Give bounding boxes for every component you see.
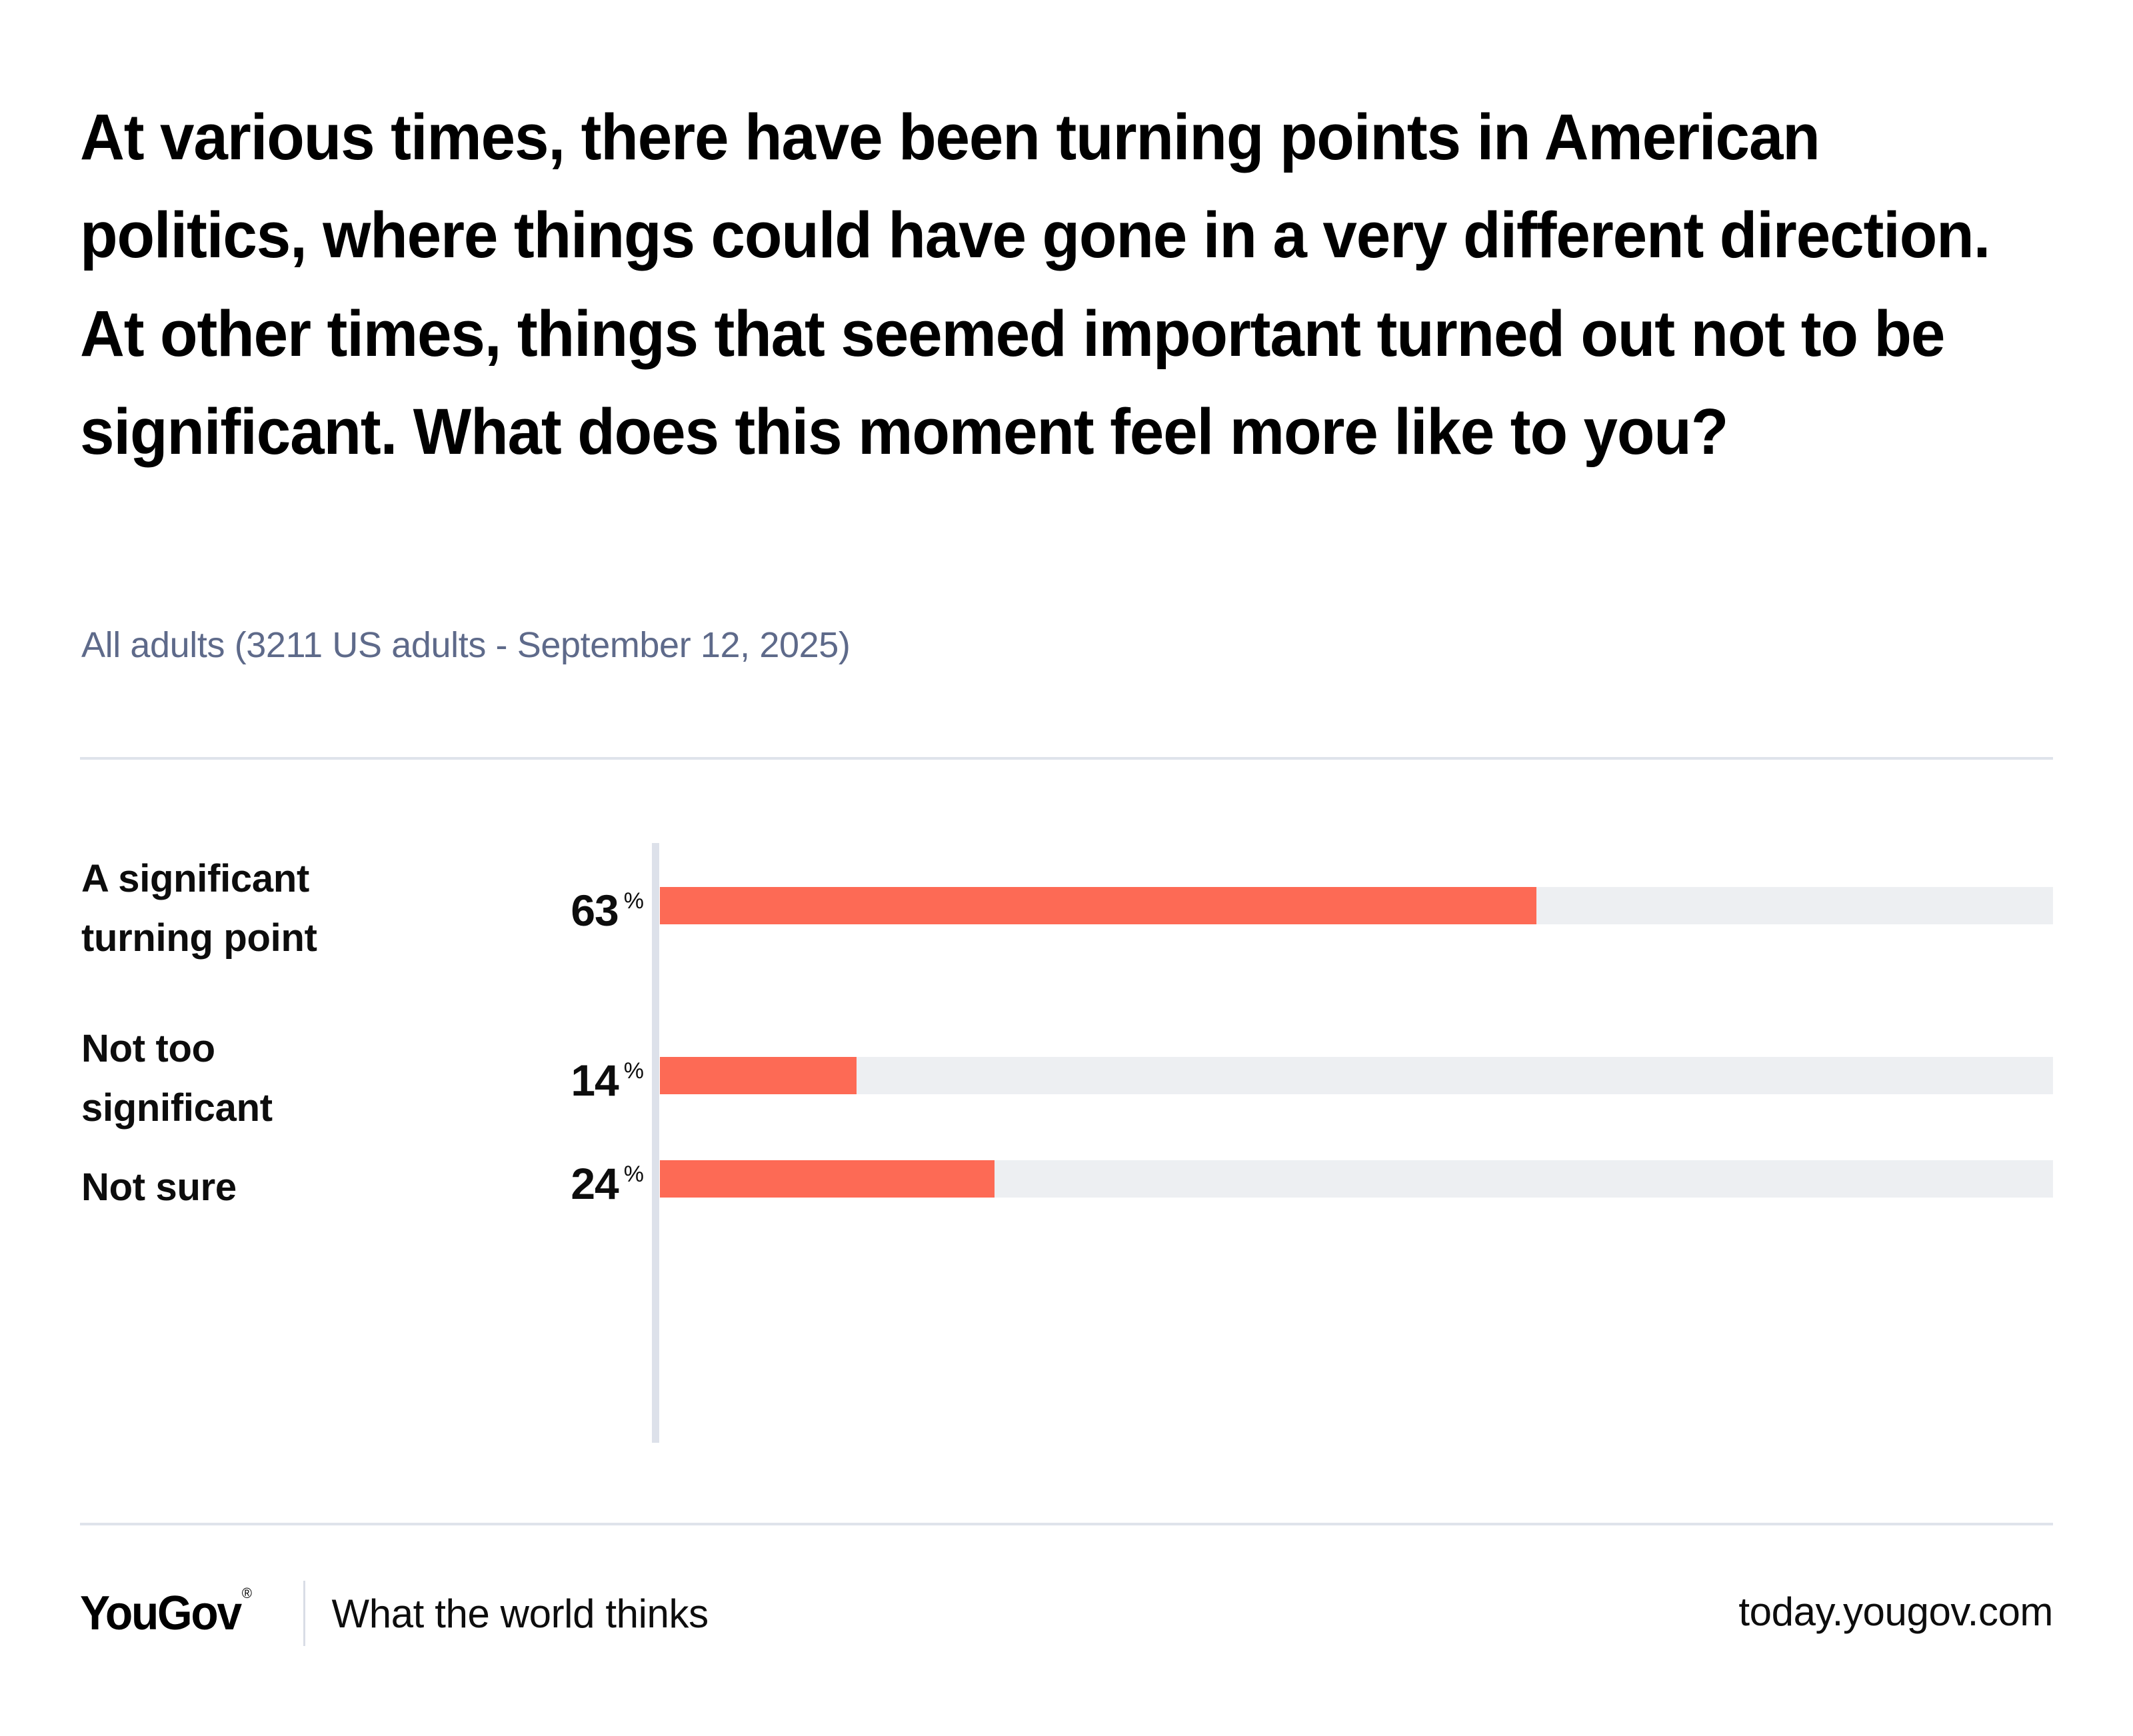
yougov-logo-text: YouGov bbox=[80, 1587, 241, 1640]
divider-bottom bbox=[80, 1523, 2053, 1525]
bar-track bbox=[660, 887, 2053, 924]
percent-sign: % bbox=[624, 1162, 644, 1187]
bar-value-group: 63% bbox=[373, 885, 639, 936]
chart-canvas: At various times, there have been turnin… bbox=[0, 0, 2133, 1736]
footer-url: today.yougov.com bbox=[1738, 1589, 2053, 1635]
page-title: At various times, there have been turnin… bbox=[80, 88, 1996, 481]
bar-fill bbox=[660, 1160, 995, 1198]
yougov-logo: YouGov® bbox=[80, 1586, 251, 1641]
bar-row: Not too significant 14% bbox=[0, 1057, 2133, 1094]
bar-value-group: 24% bbox=[373, 1158, 639, 1209]
bar-value: 14 bbox=[571, 1056, 618, 1105]
bar-fill bbox=[660, 887, 1536, 924]
bar-value: 24 bbox=[571, 1159, 618, 1208]
footer: YouGov® What the world thinks today.youg… bbox=[0, 1577, 2133, 1670]
brand-group: YouGov® What the world thinks bbox=[80, 1577, 709, 1650]
percent-sign: % bbox=[624, 888, 644, 914]
footer-vertical-divider bbox=[303, 1581, 305, 1646]
footer-tagline: What the world thinks bbox=[332, 1591, 709, 1637]
bar-row: Not sure 24% bbox=[0, 1160, 2133, 1198]
bar-fill bbox=[660, 1057, 857, 1094]
bar-track bbox=[660, 1057, 2053, 1094]
divider-top bbox=[80, 757, 2053, 760]
bar-value-group: 14% bbox=[373, 1055, 639, 1106]
bar-chart: A significant turning point 63% Not too … bbox=[0, 830, 2133, 1456]
registered-trademark-icon: ® bbox=[242, 1585, 252, 1601]
bar-row: A significant turning point 63% bbox=[0, 887, 2133, 924]
bar-track bbox=[660, 1160, 2053, 1198]
chart-subtitle: All adults (3211 US adults - September 1… bbox=[81, 624, 850, 666]
percent-sign: % bbox=[624, 1058, 644, 1084]
bar-value: 63 bbox=[571, 886, 618, 935]
chart-axis-line bbox=[652, 843, 659, 1443]
